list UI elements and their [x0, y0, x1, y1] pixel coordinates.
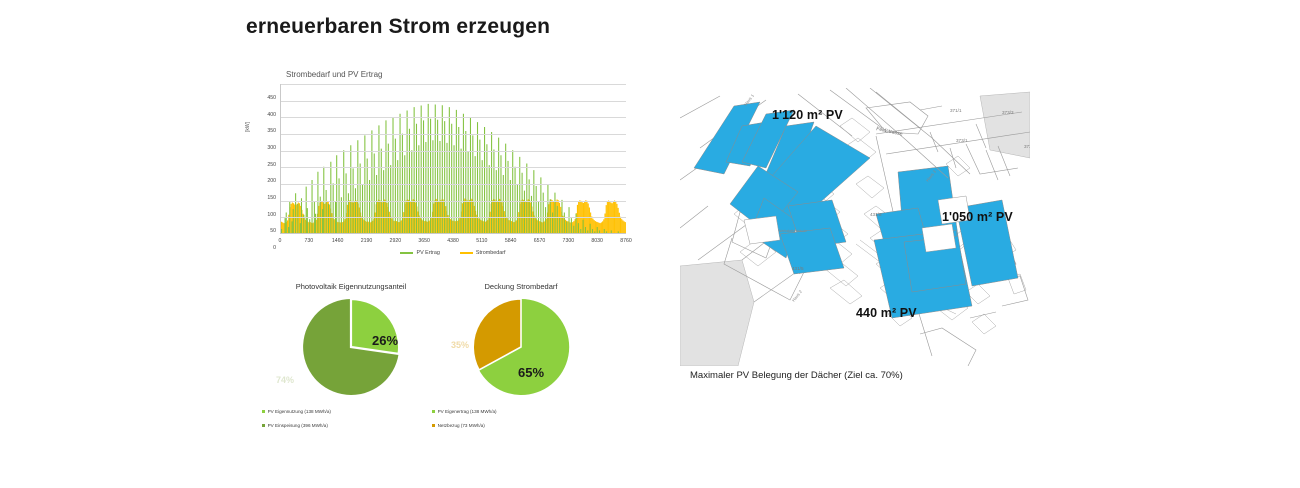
map-image: Feldstrasse 371/1 373/3 373/1 373/2 431/…: [680, 88, 1030, 366]
pv-area-label-3: 440 m² PV: [856, 306, 917, 320]
pie-right-title: Deckung Strombedarf: [426, 282, 616, 291]
x-tick-label: 7300: [563, 238, 575, 244]
x-tick-label: 8760: [620, 238, 632, 244]
pv-area-label-1: 1'120 m² PV: [772, 108, 843, 122]
pv-area-label-2: 1'050 m² PV: [942, 210, 1013, 224]
x-tick-label: 5110: [476, 238, 487, 244]
svg-text:431/5: 431/5: [792, 266, 804, 271]
pie-right-graphic: [469, 295, 573, 399]
pie-legend-item: PV Eigennutzung (138 MWh/a): [262, 409, 446, 414]
page-title: erneuerbaren Strom erzeugen: [246, 15, 550, 39]
pie-legend-label: PV Eigenertrag (138 MWh/a): [438, 409, 497, 414]
pie-legend-item: PV Eigenertrag (138 MWh/a): [432, 409, 616, 414]
legend-item: Strombedarf: [460, 250, 506, 256]
timeseries-plot-area: [280, 84, 626, 234]
pie-left-holder: 26% 74%: [256, 295, 446, 401]
pie-legend-swatch: [432, 410, 435, 413]
y-tick-label: 150: [267, 195, 276, 201]
pie-legend-label: PV Eigennutzung (138 MWh/a): [268, 409, 331, 414]
pie-charts-row: Photovoltaik Eigennutzungsanteil 26% 74%…: [246, 282, 636, 462]
legend-label: Strombedarf: [476, 250, 506, 256]
x-tick-label: 0: [279, 238, 282, 244]
x-tick-label: 2190: [361, 238, 373, 244]
pie-left-other-value: 74%: [276, 375, 294, 385]
x-tick-label: 730: [305, 238, 314, 244]
timeseries-gridlines: [281, 84, 626, 233]
pie-left-title: Photovoltaik Eigennutzungsanteil: [256, 282, 446, 291]
timeseries-chart-title: Strombedarf und PV Ertrag: [286, 70, 383, 79]
y-tick-label: 300: [267, 145, 276, 151]
x-tick-label: 4380: [447, 238, 459, 244]
timeseries-plot-canvas: [280, 84, 626, 234]
legend-item: PV Ertrag: [400, 250, 439, 256]
svg-text:431/8: 431/8: [870, 212, 882, 217]
pie-right-legend: PV Eigenertrag (138 MWh/a)Netzbezug (73 …: [426, 409, 616, 428]
pv-roof-map: Feldstrasse 371/1 373/3 373/1 373/2 431/…: [680, 88, 1030, 366]
pie-legend-swatch: [432, 424, 435, 427]
y-tick-label: 400: [267, 112, 276, 118]
pie-chart-deckung: Deckung Strombedarf 65% 35% PV Eigenertr…: [426, 282, 616, 437]
x-tick-label: 8030: [591, 238, 603, 244]
y-tick-label: 450: [267, 95, 276, 101]
y-tick-label: 200: [267, 178, 276, 184]
map-graphic: Feldstrasse 371/1 373/3 373/1 373/2 431/…: [680, 88, 1030, 366]
pie-chart-eigennutzung: Photovoltaik Eigennutzungsanteil 26% 74%…: [256, 282, 446, 437]
pie-right-other-value: 35%: [451, 340, 469, 350]
pie-right-holder: 65% 35%: [426, 295, 616, 401]
pie-legend-item: Netzbezug (73 MWh/a): [432, 423, 616, 428]
map-caption: Maximaler PV Belegung der Dächer (Ziel c…: [690, 370, 903, 381]
svg-text:373/3: 373/3: [1002, 110, 1014, 115]
pie-left-legend: PV Eigennutzung (138 MWh/a)PV Einspeisun…: [256, 409, 446, 428]
y-tick-label: 50: [270, 228, 276, 234]
pie-legend-item: PV Einspeisung (396 MWh/a): [262, 423, 446, 428]
x-tick-label: 1460: [332, 238, 344, 244]
svg-text:373/1: 373/1: [956, 138, 968, 143]
svg-text:373/2: 373/2: [1024, 144, 1030, 149]
timeseries-x-axis-ticks: 0730146021902920365043805110584065707300…: [280, 238, 626, 248]
timeseries-y-axis-ticks: 050100150200250300350400450: [246, 84, 278, 234]
x-tick-label: 5840: [505, 238, 517, 244]
timeseries-chart: Strombedarf und PV Ertrag [kW] 050100150…: [246, 70, 636, 265]
timeseries-legend: PV ErtragStrombedarf: [280, 250, 626, 256]
legend-swatch: [460, 252, 473, 254]
y-tick-label: 350: [267, 128, 276, 134]
svg-text:Werkstattgebäude: Werkstattgebäude: [778, 229, 807, 233]
x-tick-label: 3650: [418, 238, 430, 244]
pie-legend-label: PV Einspeisung (396 MWh/a): [268, 423, 328, 428]
x-tick-label: 6570: [534, 238, 546, 244]
y-tick-label: 250: [267, 162, 276, 168]
x-tick-label: 2920: [390, 238, 402, 244]
pie-legend-swatch: [262, 424, 265, 427]
y-tick-label: 0: [273, 245, 276, 251]
pie-left-graphic: [299, 295, 403, 399]
legend-label: PV Ertrag: [416, 250, 439, 256]
legend-swatch: [400, 252, 413, 254]
left-content-column: Strombedarf und PV Ertrag [kW] 050100150…: [246, 70, 646, 470]
slide-root: erneuerbaren Strom erzeugen Strombedarf …: [0, 0, 1300, 488]
pie-legend-swatch: [262, 410, 265, 413]
pie-legend-label: Netzbezug (73 MWh/a): [438, 423, 485, 428]
y-tick-label: 100: [267, 212, 276, 218]
svg-text:371/1: 371/1: [950, 108, 962, 113]
